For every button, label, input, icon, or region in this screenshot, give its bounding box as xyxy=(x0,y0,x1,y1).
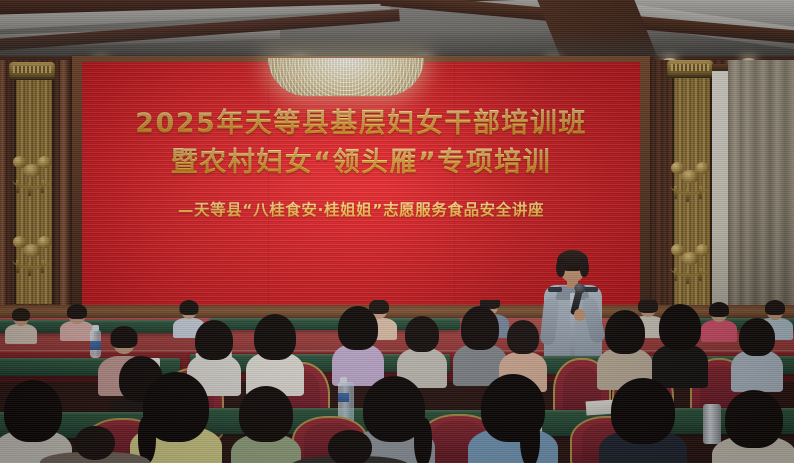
audience-member xyxy=(4,308,38,338)
audience-member xyxy=(468,374,558,463)
wood-trim xyxy=(0,60,6,310)
banner-title-line-2: 暨农村妇女“领头雁”专项培训 xyxy=(171,145,552,181)
column-capital xyxy=(667,60,713,78)
audience-member xyxy=(330,306,386,380)
audience-member xyxy=(730,316,784,384)
ornate-column-left xyxy=(14,76,50,304)
banner-subtitle: —天等县“八桂食安·桂姐姐”志愿服务食品安全讲座 xyxy=(178,198,544,220)
wood-trim xyxy=(60,60,69,310)
audience-member xyxy=(396,314,448,382)
column-medallion xyxy=(668,160,712,190)
audience-member xyxy=(244,312,306,388)
column-medallion xyxy=(10,234,54,264)
banner-title-line-1: 2025年天等县基层妇女干部培训班 xyxy=(135,106,587,142)
audience-area xyxy=(0,300,794,463)
audience-member xyxy=(650,304,710,382)
column-medallion xyxy=(10,154,54,184)
conference-hall-photo: 2025年天等县基层妇女干部培训班 暨农村妇女“领头雁”专项培训 —天等县“八桂… xyxy=(0,0,794,463)
column-capital xyxy=(9,62,55,80)
audience-member xyxy=(712,390,794,463)
audience-member xyxy=(596,310,654,384)
column-medallion xyxy=(668,242,712,272)
audience-member xyxy=(60,304,94,336)
column-shaft xyxy=(14,76,54,304)
ornate-column-right xyxy=(672,74,708,308)
ceiling xyxy=(0,0,794,64)
audience-member xyxy=(598,378,688,463)
audience-member xyxy=(290,428,410,463)
audience-member xyxy=(40,422,150,463)
